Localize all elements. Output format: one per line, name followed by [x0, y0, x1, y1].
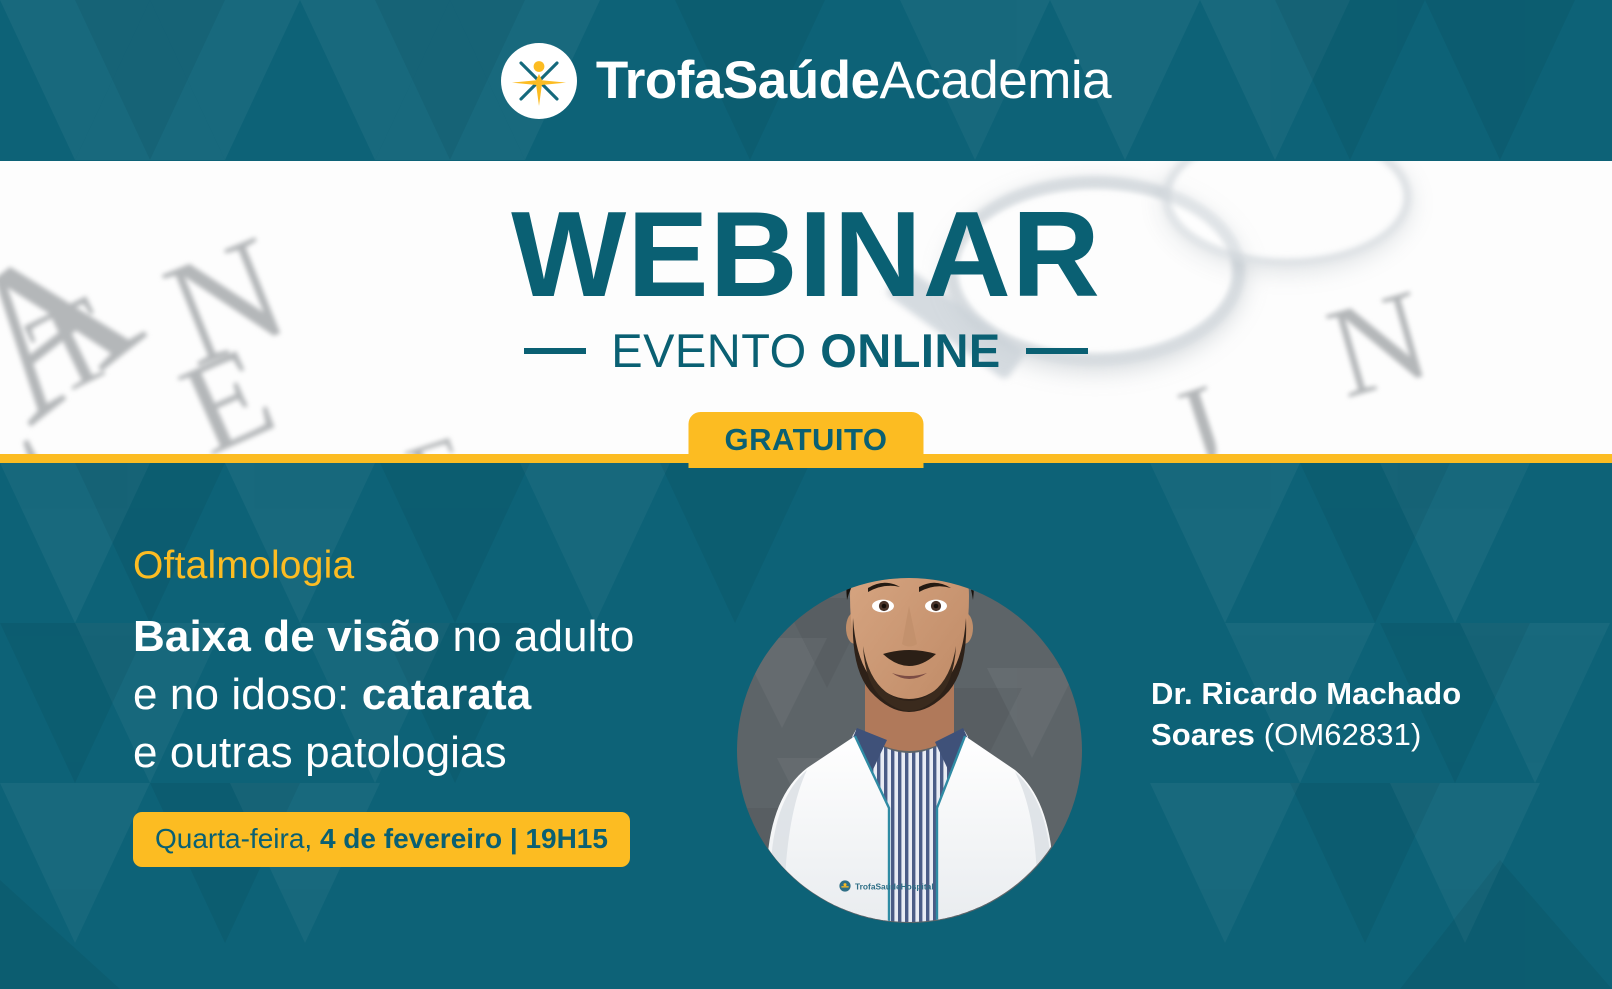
banner-subtitle-row: EVENTO ONLINE	[524, 327, 1088, 374]
site-header: TrofaSaúdeAcademia	[0, 0, 1612, 161]
rule-right	[1026, 348, 1088, 354]
subtitle-bold: ONLINE	[820, 324, 1001, 377]
speaker-registration: (OM62831)	[1255, 717, 1421, 752]
title-rest-1: no adulto	[440, 612, 634, 661]
session-copy: Oftalmologia Baixa de visão no adulto e …	[133, 545, 733, 867]
brand-name-bold: TrofaSaúde	[596, 51, 880, 110]
amber-divider	[0, 454, 1612, 463]
brand-name-light: Academia	[879, 51, 1111, 110]
date-time-badge: Quarta-feira, 4 de fevereiro | 19H15	[133, 812, 630, 867]
specialty-label: Oftalmologia	[133, 545, 733, 588]
speaker-figure: TrofaSaúdeHospital	[737, 478, 1082, 923]
date-bold: 4 de fevereiro | 19H15	[320, 823, 608, 854]
rule-left	[524, 348, 586, 354]
brand-lockup[interactable]: TrofaSaúdeAcademia	[501, 43, 1111, 119]
eye-chart-banner: A L T E N F E J N D N E R R B WEBINAR EV…	[0, 161, 1612, 454]
session-section: Oftalmologia Baixa de visão no adulto e …	[0, 463, 1612, 989]
speaker-name-line1: Dr. Ricardo Machado	[1151, 676, 1461, 711]
svg-text:TrofaSaúdeHospital: TrofaSaúdeHospital	[855, 881, 934, 891]
subtitle-light: EVENTO	[611, 324, 806, 377]
banner-subtitle: EVENTO ONLINE	[611, 327, 1001, 374]
speaker-portrait: TrofaSaúdeHospital	[737, 478, 1082, 923]
session-title: Baixa de visão no adulto e no idoso: cat…	[133, 608, 733, 782]
banner-headline: WEBINAR	[511, 193, 1101, 315]
speaker-credit: Dr. Ricardo Machado Soares (OM62831)	[1151, 674, 1491, 756]
title-bold-1: Baixa de visão	[133, 612, 440, 661]
brand-name: TrofaSaúdeAcademia	[596, 54, 1111, 107]
title-line-3: e outras patologias	[133, 728, 507, 777]
title-pre-2: e no idoso:	[133, 670, 362, 719]
speaker-name-line2: Soares	[1151, 717, 1255, 752]
title-bold-2: catarata	[362, 670, 532, 719]
date-prefix: Quarta-feira,	[155, 823, 320, 854]
webinar-poster: TrofaSaúdeAcademia A L T E N F E J N D N…	[0, 0, 1612, 989]
trofasaude-person-star-icon	[501, 43, 577, 119]
